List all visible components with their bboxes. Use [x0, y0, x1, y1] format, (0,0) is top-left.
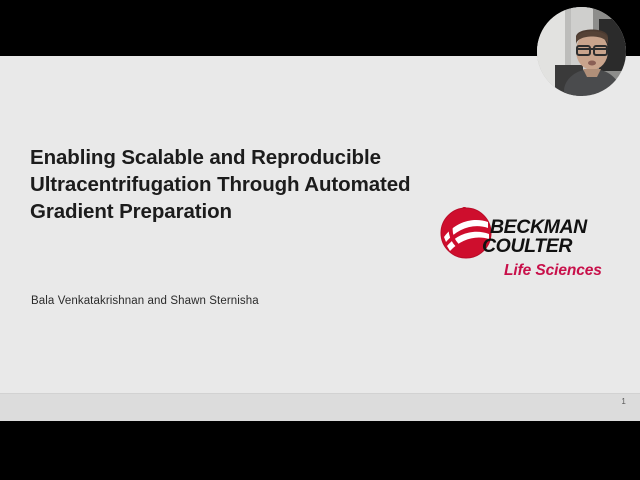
- presenter-webcam-overlay[interactable]: [537, 7, 626, 96]
- presentation-slide: Enabling Scalable and Reproducible Ultra…: [0, 56, 640, 421]
- letterbox-bottom: [0, 421, 640, 480]
- beckman-coulter-logo: BECKMAN COULTER Life Sciences: [440, 205, 590, 305]
- slide-page-number: 1: [621, 397, 626, 406]
- slide-footer-band: [0, 394, 640, 421]
- beckman-coulter-wordmark: BECKMAN COULTER: [490, 218, 590, 256]
- wordmark-line-coulter: COULTER: [482, 237, 590, 256]
- video-player-frame: Enabling Scalable and Reproducible Ultra…: [0, 0, 640, 480]
- logo-tagline-life-sciences: Life Sciences: [504, 262, 602, 280]
- slide-title: Enabling Scalable and Reproducible Ultra…: [30, 144, 430, 225]
- slide-authors: Bala Venkatakrishnan and Shawn Sternisha: [31, 295, 259, 307]
